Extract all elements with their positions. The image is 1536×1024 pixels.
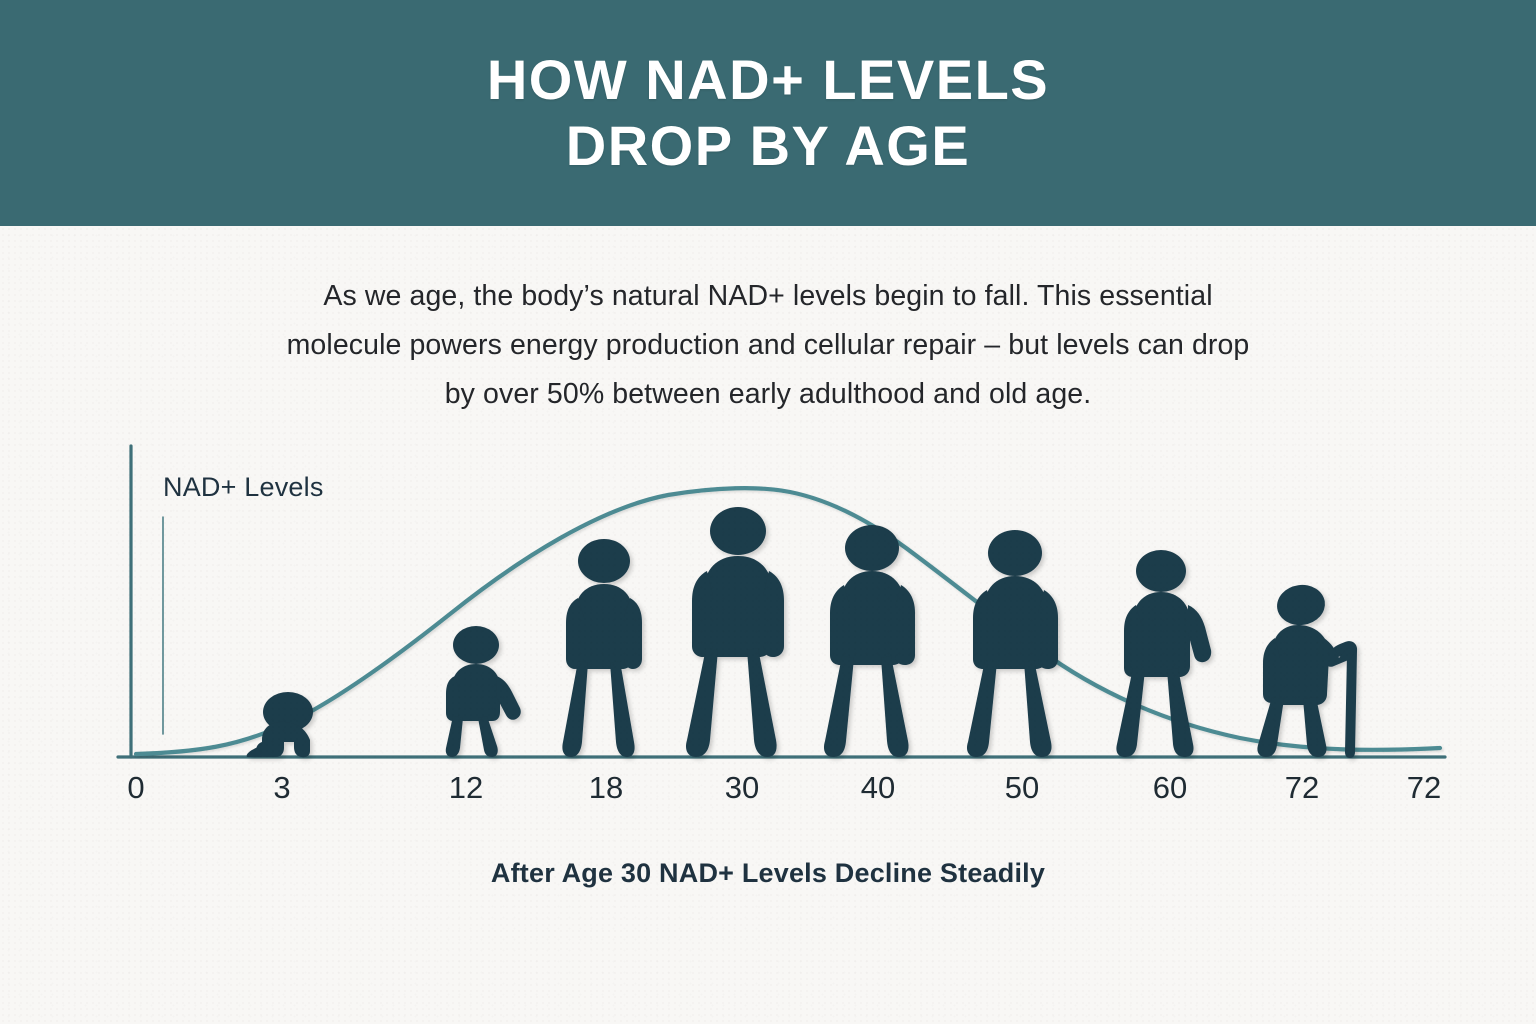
figure-age-18-teen bbox=[562, 539, 642, 757]
page-title-line-2: DROP BY AGE bbox=[566, 113, 970, 179]
page-title-line-1: HOW NAD+ LEVELS bbox=[487, 47, 1049, 113]
x-tick-label-5: 40 bbox=[861, 770, 895, 806]
x-tick-label-4: 30 bbox=[725, 770, 759, 806]
header-banner: HOW NAD+ LEVELS DROP BY AGE bbox=[0, 0, 1536, 226]
figure-age-50-middle-age bbox=[967, 530, 1058, 757]
figure-age-72-elderly-with-cane bbox=[1257, 582, 1357, 758]
figure-age-40-adult bbox=[824, 525, 915, 757]
x-tick-label-9: 72 bbox=[1407, 770, 1441, 806]
nad-curve-path bbox=[136, 488, 1440, 754]
figure-age-12-child bbox=[446, 626, 521, 757]
x-tick-label-0: 0 bbox=[127, 770, 144, 806]
intro-line-2: molecule powers energy production and ce… bbox=[248, 321, 1288, 370]
figure-age-3-crawling-baby bbox=[247, 692, 313, 757]
x-tick-label-6: 50 bbox=[1005, 770, 1039, 806]
x-tick-label-1: 3 bbox=[273, 770, 290, 806]
x-tick-label-2: 12 bbox=[449, 770, 483, 806]
intro-paragraph: As we age, the body’s natural NAD+ level… bbox=[248, 272, 1288, 419]
infographic-page: HOW NAD+ LEVELS DROP BY AGE As we age, t… bbox=[0, 0, 1536, 1024]
x-tick-label-8: 72 bbox=[1285, 770, 1319, 806]
chart-caption: After Age 30 NAD+ Levels Decline Steadil… bbox=[0, 858, 1536, 889]
x-tick-label-3: 18 bbox=[589, 770, 623, 806]
intro-line-1: As we age, the body’s natural NAD+ level… bbox=[248, 272, 1288, 321]
figure-age-30-young-adult bbox=[686, 507, 784, 757]
nad-curve bbox=[136, 488, 1440, 754]
x-axis-labels: 031218304050607272 bbox=[0, 770, 1536, 820]
intro-line-3: by over 50% between early adulthood and … bbox=[248, 370, 1288, 419]
figure-group bbox=[247, 507, 1357, 758]
x-tick-label-7: 60 bbox=[1153, 770, 1187, 806]
